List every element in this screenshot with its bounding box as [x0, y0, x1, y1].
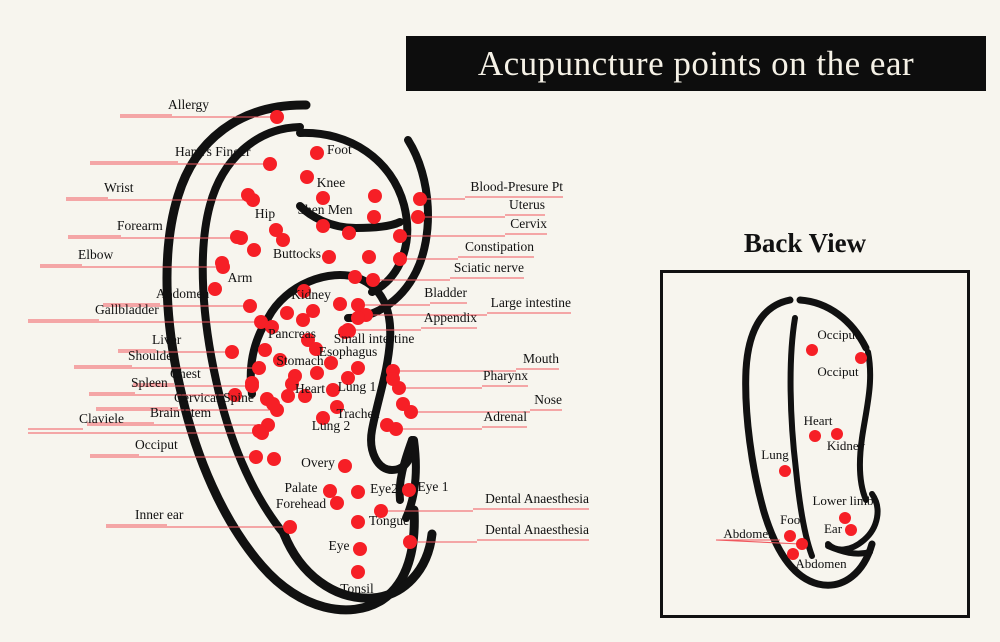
acupuncture-point-unlabeled-6[interactable] — [368, 189, 382, 203]
acupuncture-point-unlabeled-25[interactable] — [281, 389, 295, 403]
inner-label-overy: Overy — [301, 456, 335, 470]
acupuncture-point-back-abdomen[interactable] — [796, 538, 808, 550]
left-label-hands-finger: Hand's Finger — [175, 145, 251, 159]
left-label-spleen: Spleen — [131, 376, 168, 390]
inner-label-knee: Knee — [317, 176, 345, 190]
acupuncture-point-layer[interactable] — [0, 0, 1000, 642]
acupuncture-point-unlabeled-30[interactable] — [386, 372, 400, 386]
inner-label-lung-1: Lung 1 — [338, 380, 377, 394]
acupuncture-point-sciatic-nerve[interactable] — [366, 273, 380, 287]
right-label-adrenal: Adrenal — [484, 410, 527, 424]
acupuncture-point-back-lung[interactable] — [779, 465, 791, 477]
back-view-label-lower-limb: Lower limb — [812, 494, 873, 507]
inner-label-esophagus: Esophagus — [319, 345, 378, 359]
acupuncture-point-unlabeled-15[interactable] — [280, 306, 294, 320]
left-label-gallbladder: Gallbladder — [95, 303, 159, 317]
acupuncture-point-inner-ear[interactable] — [283, 520, 297, 534]
acupuncture-point-forehead[interactable] — [330, 496, 344, 510]
right-label-bladder: Bladder — [424, 286, 467, 300]
acupuncture-point-shoulder[interactable] — [252, 361, 266, 375]
acupuncture-point-unlabeled-5[interactable] — [276, 233, 290, 247]
right-label-sciatic-nerve: Sciatic nerve — [454, 261, 524, 275]
right-label-dental-anaesthesia-1: Dental Anaesthesia — [485, 492, 589, 506]
acupuncture-point-back-heart[interactable] — [809, 430, 821, 442]
acupuncture-point-unlabeled-10[interactable] — [348, 270, 362, 284]
acupuncture-point-unlabeled-2[interactable] — [230, 230, 244, 244]
back-view-label-ear: Ear — [824, 522, 842, 535]
inner-label-stomach: Stomach — [276, 354, 323, 368]
back-view-label-foot: Foot — [780, 513, 804, 526]
right-label-uterus: Uterus — [509, 198, 545, 212]
acupuncture-point-blood-presure-pt[interactable] — [413, 192, 427, 206]
right-label-mouth: Mouth — [523, 352, 559, 366]
left-label-cervical-spine: Cervical Spine — [174, 391, 254, 405]
right-label-appendix: Appendix — [424, 311, 477, 325]
acupuncture-point-unlabeled-31[interactable] — [396, 397, 410, 411]
acupuncture-point-eye-1[interactable] — [402, 483, 416, 497]
left-label-wrist: Wrist — [104, 181, 133, 195]
right-label-dental-anaesthesia-2: Dental Anaesthesia — [485, 523, 589, 537]
right-label-nose: Nose — [534, 393, 562, 407]
acupuncture-point-abdomen[interactable] — [243, 299, 257, 313]
acupuncture-point-unlabeled-3[interactable] — [215, 256, 229, 270]
inner-label-tongue: Tongue — [369, 514, 409, 528]
right-label-blood-presure-pt: Blood-Presure Pt — [470, 180, 563, 194]
acupuncture-point-eye[interactable] — [353, 542, 367, 556]
acupuncture-point-unlabeled-26[interactable] — [310, 366, 324, 380]
acupuncture-point-esophagus[interactable] — [351, 361, 365, 375]
right-label-pharynx: Pharynx — [483, 369, 528, 383]
back-view-label-abdomen: Abdomen — [723, 527, 774, 540]
inner-label-arm: Arm — [228, 271, 253, 285]
inner-label-buttocks: Buttocks — [273, 247, 321, 261]
acupuncture-point-unlabeled-1[interactable] — [241, 188, 255, 202]
acupuncture-point-unlabeled-23[interactable] — [266, 397, 280, 411]
left-label-elbow: Elbow — [78, 248, 113, 262]
inner-label-tonsil: Tonsil — [340, 582, 374, 596]
acupuncture-point-unlabeled-21[interactable] — [245, 376, 259, 390]
inner-label-eye2: Eye2 — [370, 482, 398, 496]
back-view-label-abdomen-2: Abdomen — [795, 557, 846, 570]
acupuncture-point-allergy[interactable] — [270, 110, 284, 124]
inner-label-kidney: Kidney — [291, 288, 331, 302]
acupuncture-point-unlabeled-33[interactable] — [267, 452, 281, 466]
left-label-brain-stem: Brain Stem — [150, 406, 211, 420]
acupuncture-point-liver[interactable] — [225, 345, 239, 359]
back-view-label-occiput-2: Occiput — [817, 365, 858, 378]
acupuncture-point-unlabeled-19[interactable] — [258, 343, 272, 357]
acupuncture-point-back-ear[interactable] — [845, 524, 857, 536]
right-label-constipation: Constipation — [465, 240, 534, 254]
right-label-large-intestine: Large intestine — [491, 296, 571, 310]
acupuncture-point-unlabeled-13[interactable] — [351, 311, 365, 325]
acupuncture-point-uterus[interactable] — [411, 210, 425, 224]
acupuncture-point-unlabeled-7[interactable] — [367, 210, 381, 224]
acupuncture-point-tonsil[interactable] — [351, 565, 365, 579]
acupuncture-point-unlabeled-0[interactable] — [300, 170, 314, 184]
left-label-abdomen: Abdomen — [156, 287, 209, 301]
back-view-label-heart: Heart — [804, 414, 833, 427]
acupuncture-point-dental-anaesthesia-2[interactable] — [403, 535, 417, 549]
acupuncture-point-tongue[interactable] — [351, 515, 365, 529]
acupuncture-point-cervix[interactable] — [393, 229, 407, 243]
back-view-label-occiput: Occiput — [817, 328, 858, 341]
inner-label-shen-men: Shen Men — [297, 203, 352, 217]
acupuncture-point-eye2[interactable] — [351, 485, 365, 499]
inner-label-eye-1: Eye 1 — [417, 480, 448, 494]
acupuncture-point-foot[interactable] — [310, 146, 324, 160]
acupuncture-point-back-occiput[interactable] — [806, 344, 818, 356]
inner-label-heart: Heart — [295, 382, 325, 396]
inner-label-foot: Foot — [327, 143, 352, 157]
left-label-forearm: Forearm — [117, 219, 163, 233]
acupuncture-point-overy[interactable] — [338, 459, 352, 473]
acupuncture-point-buttocks[interactable] — [322, 250, 336, 264]
acupuncture-point-unlabeled-24[interactable] — [252, 424, 266, 438]
inner-label-hip: Hip — [255, 207, 275, 221]
left-label-shoulder: Shoulder — [128, 349, 177, 363]
left-label-liver: Liver — [152, 333, 181, 347]
inner-label-pancreas: Pancreas — [268, 327, 316, 341]
acupuncture-point-constipation[interactable] — [393, 252, 407, 266]
left-label-allergy: Allergy — [168, 98, 209, 112]
inner-label-palate: Palate — [285, 481, 318, 495]
left-label-claviele: Claviele — [79, 412, 124, 426]
back-view-label-kidney: Kidney — [827, 439, 865, 452]
inner-label-forehead: Forehead — [276, 497, 326, 511]
left-label-chest: Chest — [170, 367, 201, 381]
acupuncture-point-unlabeled-12[interactable] — [333, 297, 347, 311]
right-label-cervix: Cervix — [510, 217, 547, 231]
left-label-occiput: Occiput — [135, 438, 178, 452]
acupuncture-point-back-foot[interactable] — [784, 530, 796, 542]
acupuncture-point-arm[interactable] — [208, 282, 222, 296]
acupuncture-point-shen-men[interactable] — [316, 219, 330, 233]
acupuncture-point-unlabeled-9[interactable] — [362, 250, 376, 264]
acupuncture-point-hands-finger[interactable] — [263, 157, 277, 171]
left-label-inner-ear: Inner ear — [135, 508, 183, 522]
back-view-label-lung: Lung — [761, 448, 788, 461]
acupuncture-point-occiput[interactable] — [249, 450, 263, 464]
acupuncture-point-unlabeled-16[interactable] — [296, 313, 310, 327]
inner-label-eye: Eye — [329, 539, 350, 553]
acupuncture-point-unlabeled-32[interactable] — [380, 418, 394, 432]
inner-label-lung-2: Lung 2 — [312, 419, 351, 433]
acupuncture-point-unlabeled-8[interactable] — [342, 226, 356, 240]
acupuncture-point-back-occiput-2[interactable] — [855, 352, 867, 364]
acupuncture-point-unlabeled-4[interactable] — [247, 243, 261, 257]
